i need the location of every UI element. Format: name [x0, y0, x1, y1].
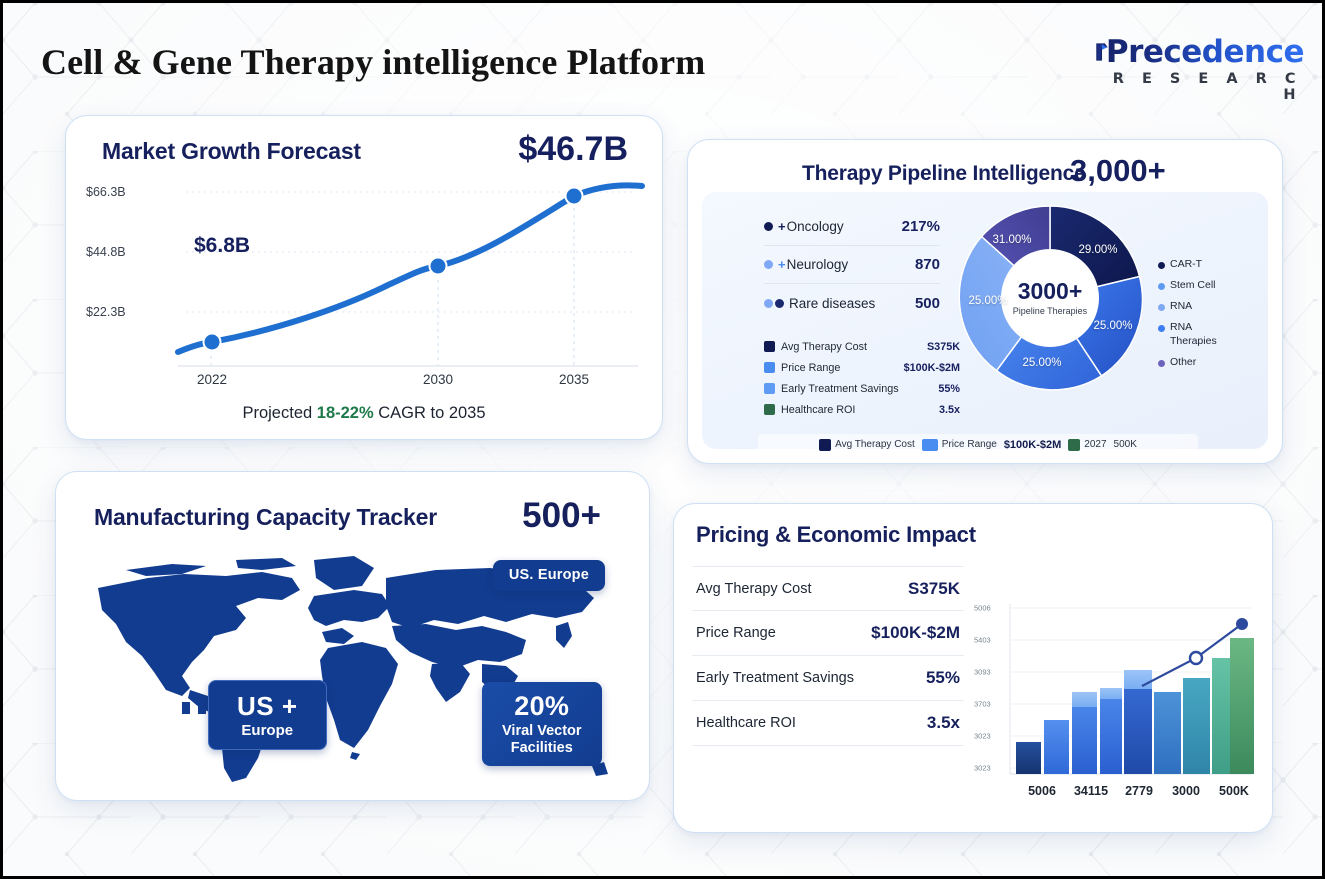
card-pricing-economic-impact: Pricing & Economic Impact Avg Therapy Co… [673, 503, 1273, 833]
color-swatch-icon [764, 383, 775, 394]
donut-legend: CAR-T Stem Cell RNA RNA Therapies Other [1158, 258, 1248, 377]
row-value: $100K-$2M [871, 623, 960, 643]
status-dot-icon [764, 260, 773, 269]
indication-value: 500 [915, 295, 940, 312]
indication-value: 217% [902, 218, 940, 235]
list-item[interactable]: Stem Cell [1158, 279, 1248, 292]
plus-icon: + [778, 219, 786, 234]
legend-label: 500K [1114, 439, 1137, 450]
donut-hole [1001, 249, 1099, 347]
donut-label-31: 31.00% [992, 234, 1031, 246]
badge-us-plus-europe[interactable]: US + Europe [208, 680, 327, 750]
bar-x-tick-0: 5006 [1028, 784, 1056, 798]
infographic-page: Cell & Gene Therapy intelligence Platfor… [0, 0, 1325, 879]
legend-dot-icon [1158, 283, 1165, 290]
logo-wordmark: Precedence [1106, 37, 1304, 68]
stat-label: Price Range [781, 362, 840, 374]
indication-label: Rare diseases [789, 296, 915, 311]
pricing-table: Avg Therapy Cost S375K Price Range $100K… [692, 566, 964, 746]
legend-entry[interactable]: Price Range [922, 439, 997, 451]
growth-line-series [178, 185, 642, 352]
color-swatch-icon [764, 341, 775, 352]
badge-viral-vector-facilities[interactable]: 20% Viral Vector Facilities [482, 682, 602, 766]
bar-x-tick-3: 3000 [1172, 784, 1200, 798]
stat-label: Healthcare ROI [781, 404, 855, 416]
x-tick-label-2035: 2035 [559, 372, 589, 387]
donut-label-29: 29.00% [1078, 244, 1117, 256]
data-point-2035 [566, 188, 583, 205]
legend-dot-icon [1158, 325, 1165, 332]
indication-label: Neurology [787, 257, 915, 272]
legend-dot-group [764, 222, 773, 231]
bar-chart-svg [974, 592, 1256, 802]
table-row[interactable]: Avg Therapy Cost S375K [692, 566, 964, 611]
status-dot-icon [764, 299, 773, 308]
color-swatch-icon [819, 439, 831, 451]
list-item[interactable]: Rare diseases 500 [764, 284, 940, 322]
color-swatch-icon [764, 404, 775, 415]
bar-2[interactable] [1044, 720, 1069, 774]
donut-label-25a: 25.00% [1093, 320, 1132, 332]
color-swatch-icon [922, 439, 938, 451]
legend-dot-icon [1158, 304, 1165, 311]
trend-point-end [1236, 618, 1248, 630]
list-item[interactable]: Price Range $100K-$2M [764, 357, 960, 378]
row-value: 3.5x [927, 713, 960, 733]
status-dot-icon [775, 299, 784, 308]
page-title: Cell & Gene Therapy intelligence Platfor… [41, 41, 705, 83]
legend-label: Price Range [942, 439, 997, 450]
plus-icon: + [778, 257, 786, 272]
pipeline-donut-chart: 29.00% 25.00% 25.00% 25.00% 31.00% 3000+… [950, 198, 1150, 398]
badge-line-2: Viral Vector [502, 723, 582, 740]
indication-value: 870 [915, 256, 940, 273]
legend-label: 2027 [1084, 439, 1106, 450]
bar-4-cap [1100, 688, 1122, 699]
y-tick-label-66: $66.3B [86, 185, 126, 199]
table-row[interactable]: Early Treatment Savings 55% [692, 656, 964, 701]
legend-entry[interactable]: Avg Therapy Cost [819, 439, 915, 451]
data-point-2022 [204, 334, 221, 351]
color-swatch-icon [764, 362, 775, 373]
y-tick-label-22: $22.3B [86, 305, 126, 319]
bar-x-tick-4: 500K [1219, 784, 1249, 798]
bar-3[interactable] [1072, 706, 1097, 774]
pipeline-headline-value: 3,000+ [1070, 153, 1166, 189]
donut-label-25c: 25.00% [968, 295, 1007, 307]
list-item[interactable]: Healthcare ROI 3.5x [764, 399, 960, 420]
card-market-growth-forecast: Market Growth Forecast $46.7B [65, 115, 663, 440]
pipeline-title: Therapy Pipeline Intelligence [802, 162, 1086, 186]
bar-5[interactable] [1124, 688, 1152, 774]
color-swatch-icon [1068, 439, 1080, 451]
trend-point-mid [1190, 652, 1202, 664]
cagr-prefix: Projected [242, 404, 316, 422]
row-label: Early Treatment Savings [696, 670, 854, 686]
bar-y-tick-3: 3093 [974, 668, 991, 677]
market-growth-start-value: $6.8B [194, 234, 250, 258]
bar-5-cap [1124, 670, 1152, 689]
list-item[interactable]: RNA [1158, 300, 1248, 313]
list-item[interactable]: RNA Therapies [1158, 321, 1248, 347]
market-growth-title: Market Growth Forecast [102, 138, 361, 165]
x-tick-label-2030: 2030 [423, 372, 453, 387]
list-item[interactable]: + Oncology 217% [764, 208, 940, 246]
list-item[interactable]: CAR-T [1158, 258, 1248, 271]
legend-entry[interactable]: 2027 [1068, 439, 1106, 451]
legend-label: CAR-T [1170, 258, 1202, 271]
list-item[interactable]: Avg Therapy Cost S375K [764, 336, 960, 357]
legend-label: Other [1170, 356, 1196, 369]
donut-label-25b: 25.00% [1022, 357, 1061, 369]
bar-3-cap [1072, 692, 1097, 707]
legend-dot-icon [1158, 360, 1165, 367]
card-manufacturing-capacity: Manufacturing Capacity Tracker 500+ [55, 471, 650, 801]
legend-value-range: $100K-$2M [1004, 439, 1061, 451]
legend-label: Avg Therapy Cost [835, 439, 915, 450]
market-growth-headline-value: $46.7B [518, 130, 628, 169]
manufacturing-headline-value: 500+ [522, 496, 601, 536]
stat-label: Early Treatment Savings [781, 383, 899, 395]
logo-subtext: R E S E A R C H [1094, 71, 1304, 103]
bar-4[interactable] [1100, 698, 1122, 774]
status-dot-icon [764, 222, 773, 231]
legend-label: RNA Therapies [1170, 321, 1217, 347]
row-value: 55% [926, 668, 960, 688]
manufacturing-title: Manufacturing Capacity Tracker [94, 504, 437, 531]
list-item[interactable]: + Neurology 870 [764, 246, 940, 284]
bar-y-tick-4: 5403 [974, 636, 991, 645]
pricing-title: Pricing & Economic Impact [696, 522, 976, 548]
legend-label: Stem Cell [1170, 279, 1216, 292]
bar-y-tick-2: 3703 [974, 700, 991, 709]
badge-line-2: Europe [237, 722, 298, 740]
line-chart-svg [86, 174, 646, 399]
table-row[interactable]: Healthcare ROI 3.5x [692, 701, 964, 746]
legend-dot-group [764, 260, 773, 269]
list-item[interactable]: Early Treatment Savings 55% [764, 378, 960, 399]
row-value: S375K [908, 579, 960, 599]
indication-label: Oncology [787, 219, 902, 234]
cagr-highlight: 18-22% [317, 404, 374, 422]
bar-x-tick-1: 34115 [1074, 784, 1108, 798]
pricing-bar-chart: 5006 5403 3093 3703 3023 3023 5006 34115… [974, 592, 1256, 802]
pipeline-indication-list: + Oncology 217% + Neurology 870 Rare dis… [764, 208, 940, 322]
table-row[interactable]: Price Range $100K-$2M [692, 611, 964, 656]
badge-line-1: 20% [502, 691, 582, 723]
bar-7[interactable] [1183, 678, 1210, 774]
market-growth-line-chart: $66.3B $44.8B $22.3B 2022 2030 2035 [86, 174, 646, 399]
bar-y-tick-0: 3023 [974, 764, 991, 773]
badge-line-3: Facilities [502, 740, 582, 757]
y-tick-label-44: $44.8B [86, 245, 126, 259]
bar-1[interactable] [1016, 742, 1041, 774]
stat-value: 3.5x [939, 404, 960, 416]
cagr-suffix: CAGR to 2035 [374, 404, 486, 422]
row-label: Price Range [696, 625, 776, 641]
cagr-footnote: Projected 18-22% CAGR to 2035 [66, 404, 662, 423]
legend-label: RNA [1170, 300, 1192, 313]
bar-y-tick-5: 5006 [974, 604, 991, 613]
badge-us-europe-top[interactable]: US. Europe [493, 560, 605, 591]
bar-6[interactable] [1154, 692, 1181, 774]
badge-line-1: US + [237, 691, 298, 722]
legend-dot-group [764, 299, 784, 308]
row-label: Avg Therapy Cost [696, 581, 812, 597]
pipeline-stat-list: Avg Therapy Cost S375K Price Range $100K… [764, 336, 960, 420]
stat-label: Avg Therapy Cost [781, 341, 867, 353]
bar-9[interactable] [1230, 638, 1254, 774]
bar-x-tick-2: 2779 [1125, 784, 1153, 798]
row-label: Healthcare ROI [696, 715, 796, 731]
precedence-research-logo: Precedence R E S E A R C H [1094, 35, 1304, 103]
data-point-2030 [430, 258, 447, 275]
x-tick-label-2022: 2022 [197, 372, 227, 387]
bar-y-tick-1: 3023 [974, 732, 991, 741]
pipeline-legend-bar: Avg Therapy Cost Price Range $100K-$2M 2… [758, 434, 1198, 455]
legend-dot-icon [1158, 262, 1165, 269]
card-therapy-pipeline: Therapy Pipeline Intelligence 3,000+ + O… [687, 139, 1283, 464]
list-item[interactable]: Other [1158, 356, 1248, 369]
